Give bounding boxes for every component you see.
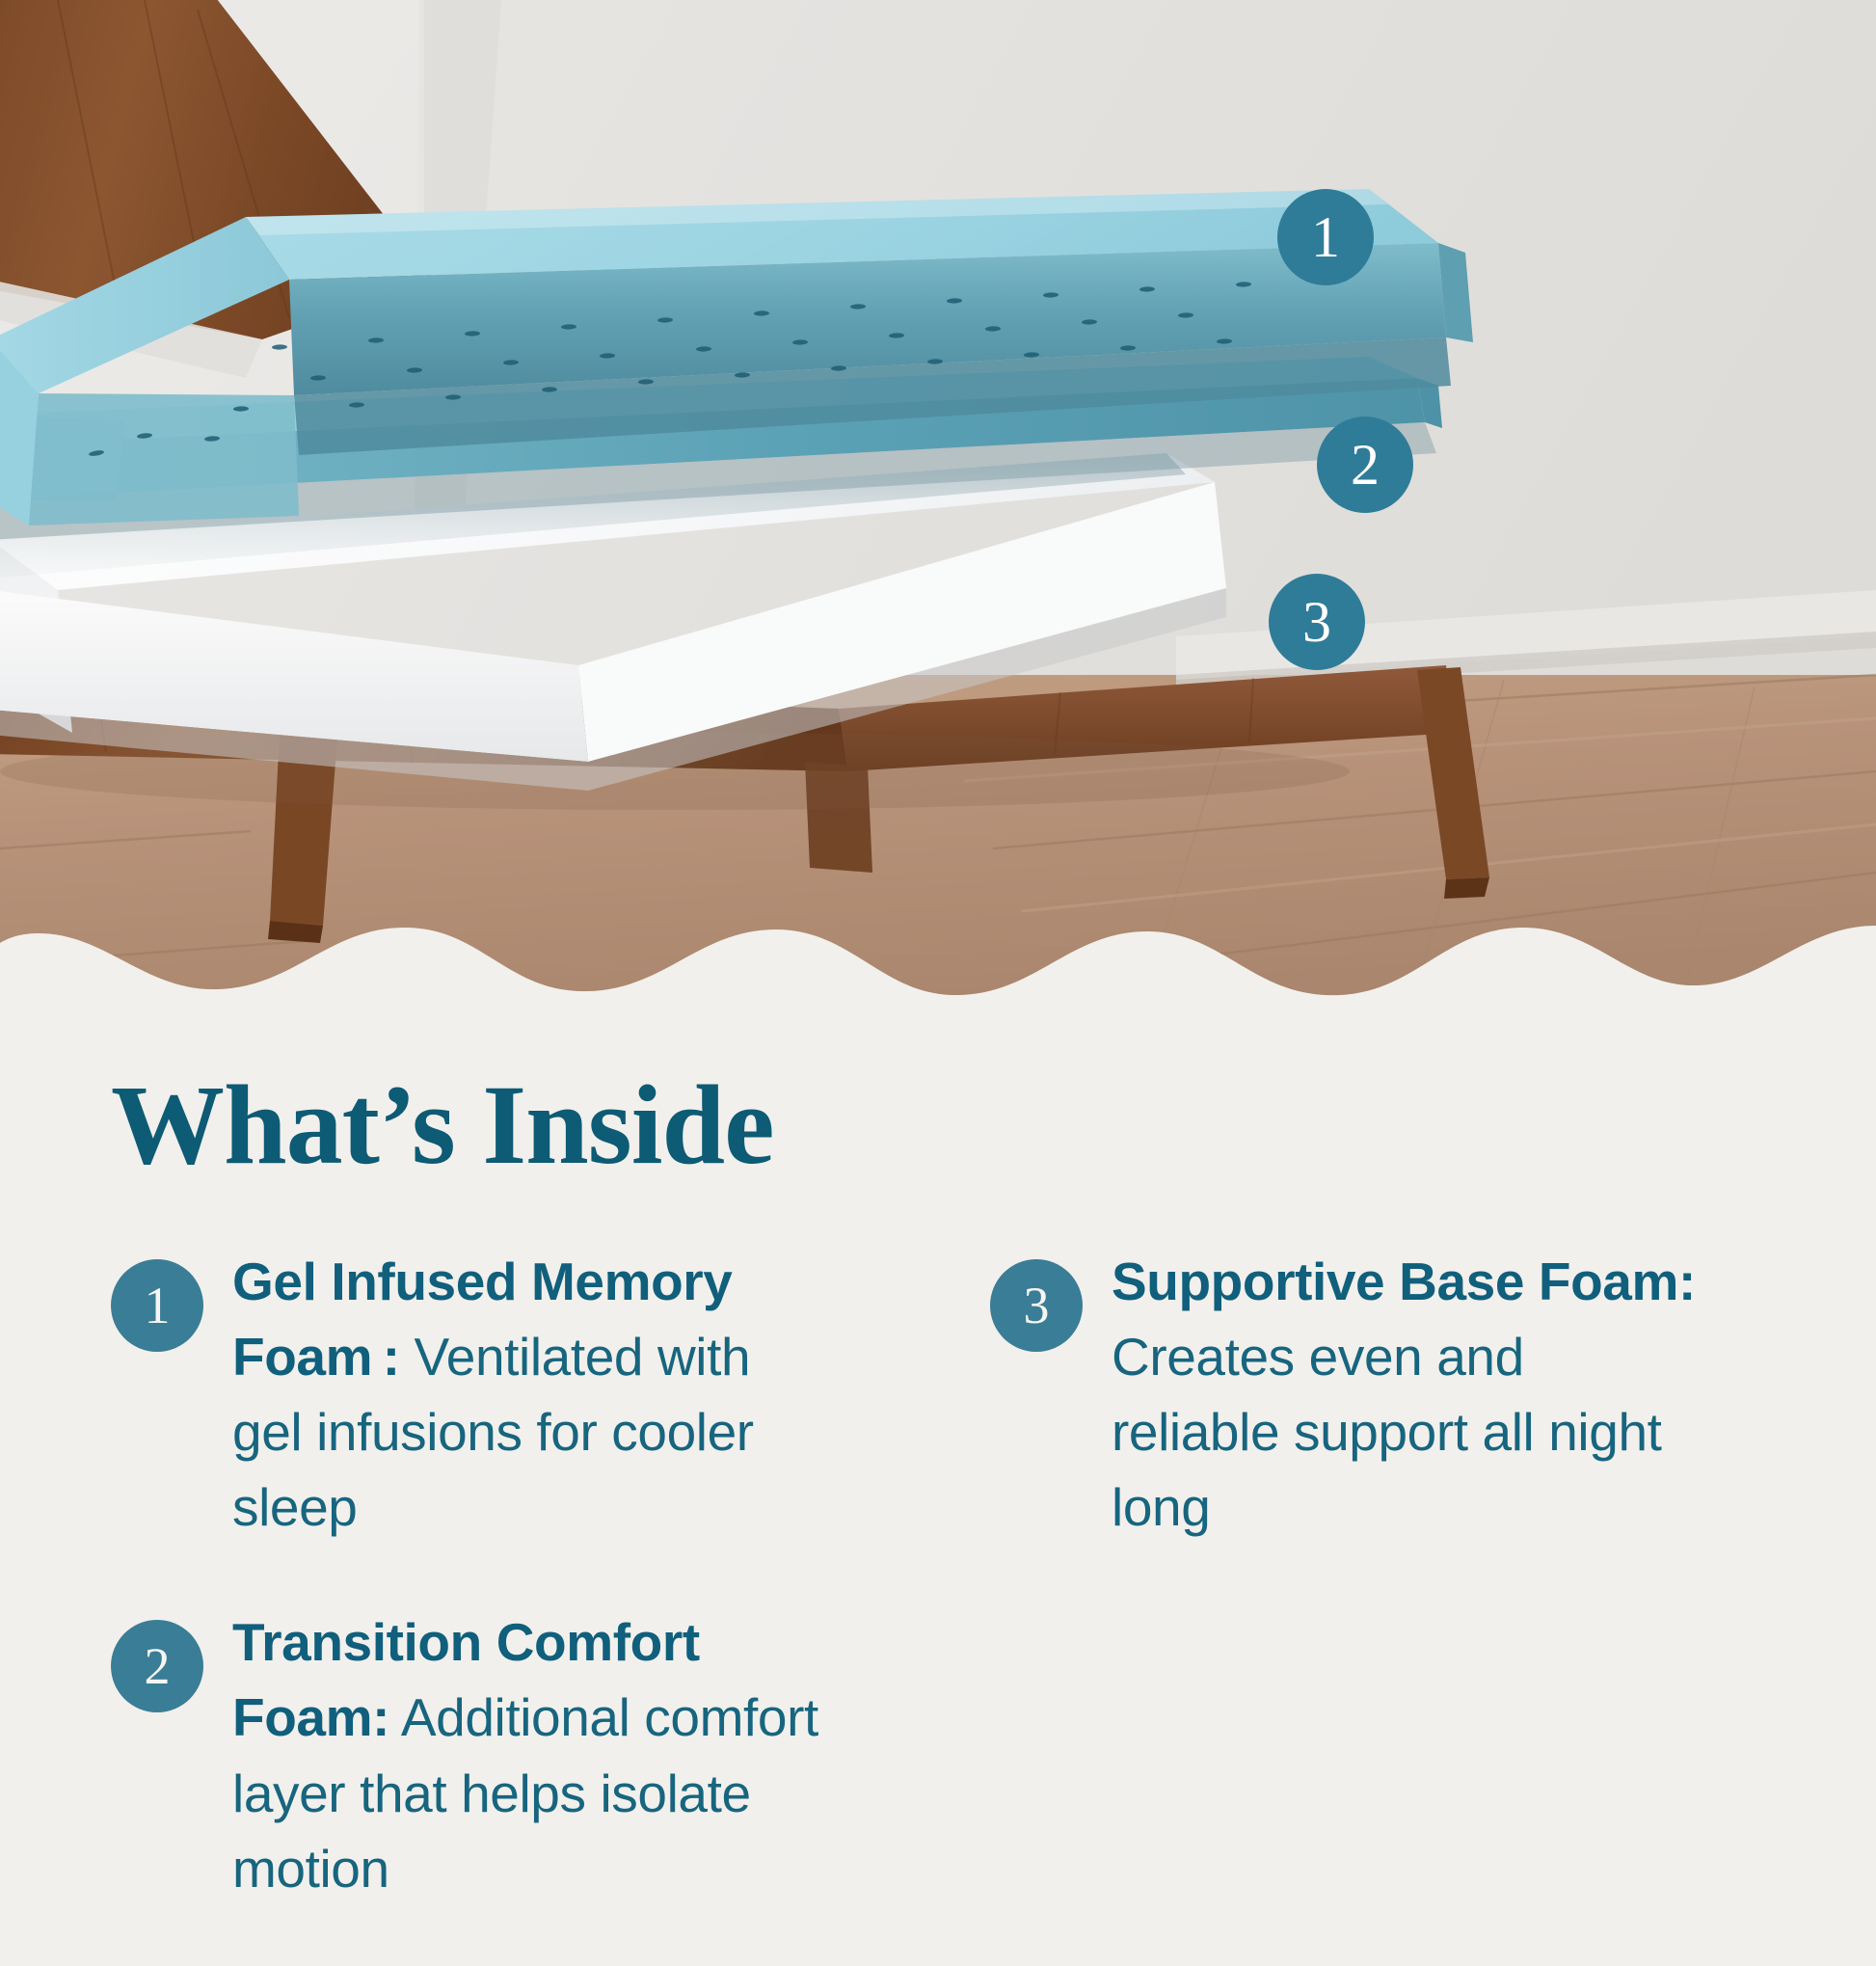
feature-text-3: Supportive Base Foam: Creates even and r… [1083,1244,1700,1545]
feature-column-right: 3 Supportive Base Foam: Creates even and… [969,1244,1827,1966]
content-section: What’s Inside 1 Gel Infused Memory Foam … [0,1022,1876,1876]
product-photo: 1 2 3 [0,0,1876,1022]
infographic-page: 1 2 3 What’s Inside 1 Gel Infused Memory… [0,0,1876,1876]
feature-item-1: 1 Gel Infused Memory Foam : Ventilated w… [111,1244,969,1545]
feature-lead-3: Supportive Base Foam: [1112,1252,1696,1311]
feature-description-3: Creates even and reliable support all ni… [1112,1327,1662,1537]
feature-column-left: 1 Gel Infused Memory Foam : Ventilated w… [111,1244,969,1966]
feature-item-3: 3 Supportive Base Foam: Creates even and… [990,1244,1827,1545]
page-title: What’s Inside [111,1068,774,1182]
photo-callout-badge-2: 2 [1317,417,1413,513]
feature-badge-1: 1 [111,1259,203,1352]
feature-item-2: 2 Transition Comfort Foam: Additional co… [111,1604,969,1905]
feature-badge-2: 2 [111,1620,203,1712]
feature-text-2: Transition Comfort Foam: Additional comf… [203,1604,820,1905]
photo-callout-badge-1: 1 [1277,189,1374,285]
feature-badge-3: 3 [990,1259,1083,1352]
feature-columns: 1 Gel Infused Memory Foam : Ventilated w… [111,1244,1827,1966]
feature-text-1: Gel Infused Memory Foam : Ventilated wit… [203,1244,820,1545]
photo-callout-badge-3: 3 [1269,574,1365,670]
